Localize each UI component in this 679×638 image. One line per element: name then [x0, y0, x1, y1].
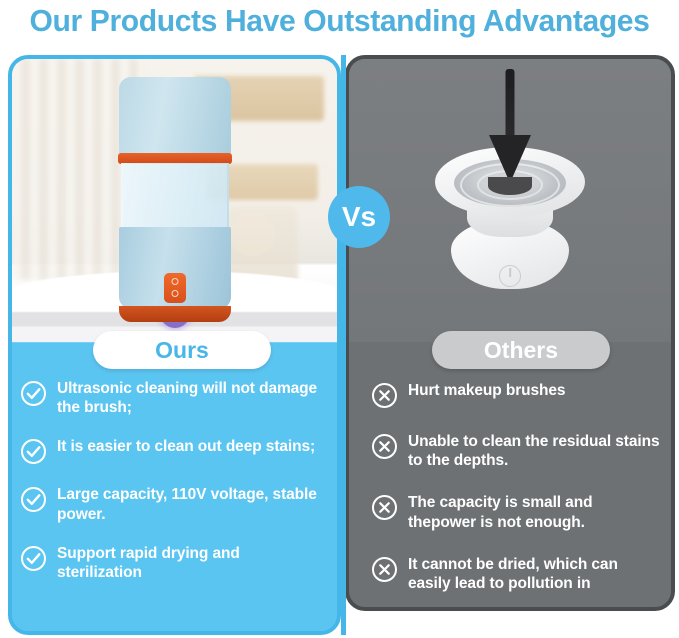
device-base — [119, 306, 231, 322]
ours-product-photo — [12, 59, 337, 342]
vs-badge: Vs — [328, 186, 390, 248]
check-circle-icon — [20, 438, 47, 465]
list-item: Large capacity, 110V voltage, stable pow… — [20, 485, 320, 523]
device-control-button — [164, 273, 186, 303]
check-circle-icon — [20, 486, 47, 513]
others-label-pill: Others — [432, 331, 610, 369]
ours-label-pill: Ours — [93, 331, 271, 369]
list-item: Hurt makeup brushes — [371, 381, 663, 409]
list-item: The capacity is small and thepower is no… — [371, 493, 663, 531]
list-item: It cannot be dried, which can easily lea… — [371, 555, 663, 593]
list-item: It is easier to clean out deep stains; — [20, 437, 320, 465]
list-item: Unable to clean the residual stains to t… — [371, 432, 663, 470]
black-brush-handle — [506, 69, 515, 141]
list-item: Support rapid drying and sterilization — [20, 544, 320, 582]
list-item: Ultrasonic cleaning will not damage the … — [20, 379, 320, 417]
device-cap — [119, 77, 231, 155]
list-item-label: Support rapid drying and sterilization — [57, 544, 320, 582]
center-divider — [341, 55, 346, 635]
page-title: Our Products Have Outstanding Advantages — [10, 0, 669, 42]
list-item-label: Ultrasonic cleaning will not damage the … — [57, 379, 320, 417]
list-item-label: Large capacity, 110V voltage, stable pow… — [57, 485, 320, 523]
list-item-label: It is easier to clean out deep stains; — [57, 437, 315, 456]
list-item-label: Hurt makeup brushes — [408, 381, 565, 400]
black-brush-ferrule — [489, 135, 531, 183]
list-item-label: It cannot be dried, which can easily lea… — [408, 555, 663, 593]
check-circle-icon — [20, 380, 47, 407]
power-button-icon — [499, 265, 521, 287]
ultrasonic-cleaner-device — [119, 77, 231, 322]
device-water-chamber — [121, 163, 229, 229]
x-circle-icon — [371, 494, 398, 521]
others-feature-list: Hurt makeup brushes Unable to clean the … — [371, 381, 663, 616]
x-circle-icon — [371, 433, 398, 460]
black-brush-tip — [488, 177, 532, 195]
list-item-label: Unable to clean the residual stains to t… — [408, 432, 663, 470]
check-circle-icon — [20, 545, 47, 572]
x-circle-icon — [371, 382, 398, 409]
list-item-label: The capacity is small and thepower is no… — [408, 493, 663, 531]
ours-feature-list: Ultrasonic cleaning will not damage the … — [20, 379, 320, 602]
x-circle-icon — [371, 556, 398, 583]
others-product-photo — [349, 59, 671, 342]
